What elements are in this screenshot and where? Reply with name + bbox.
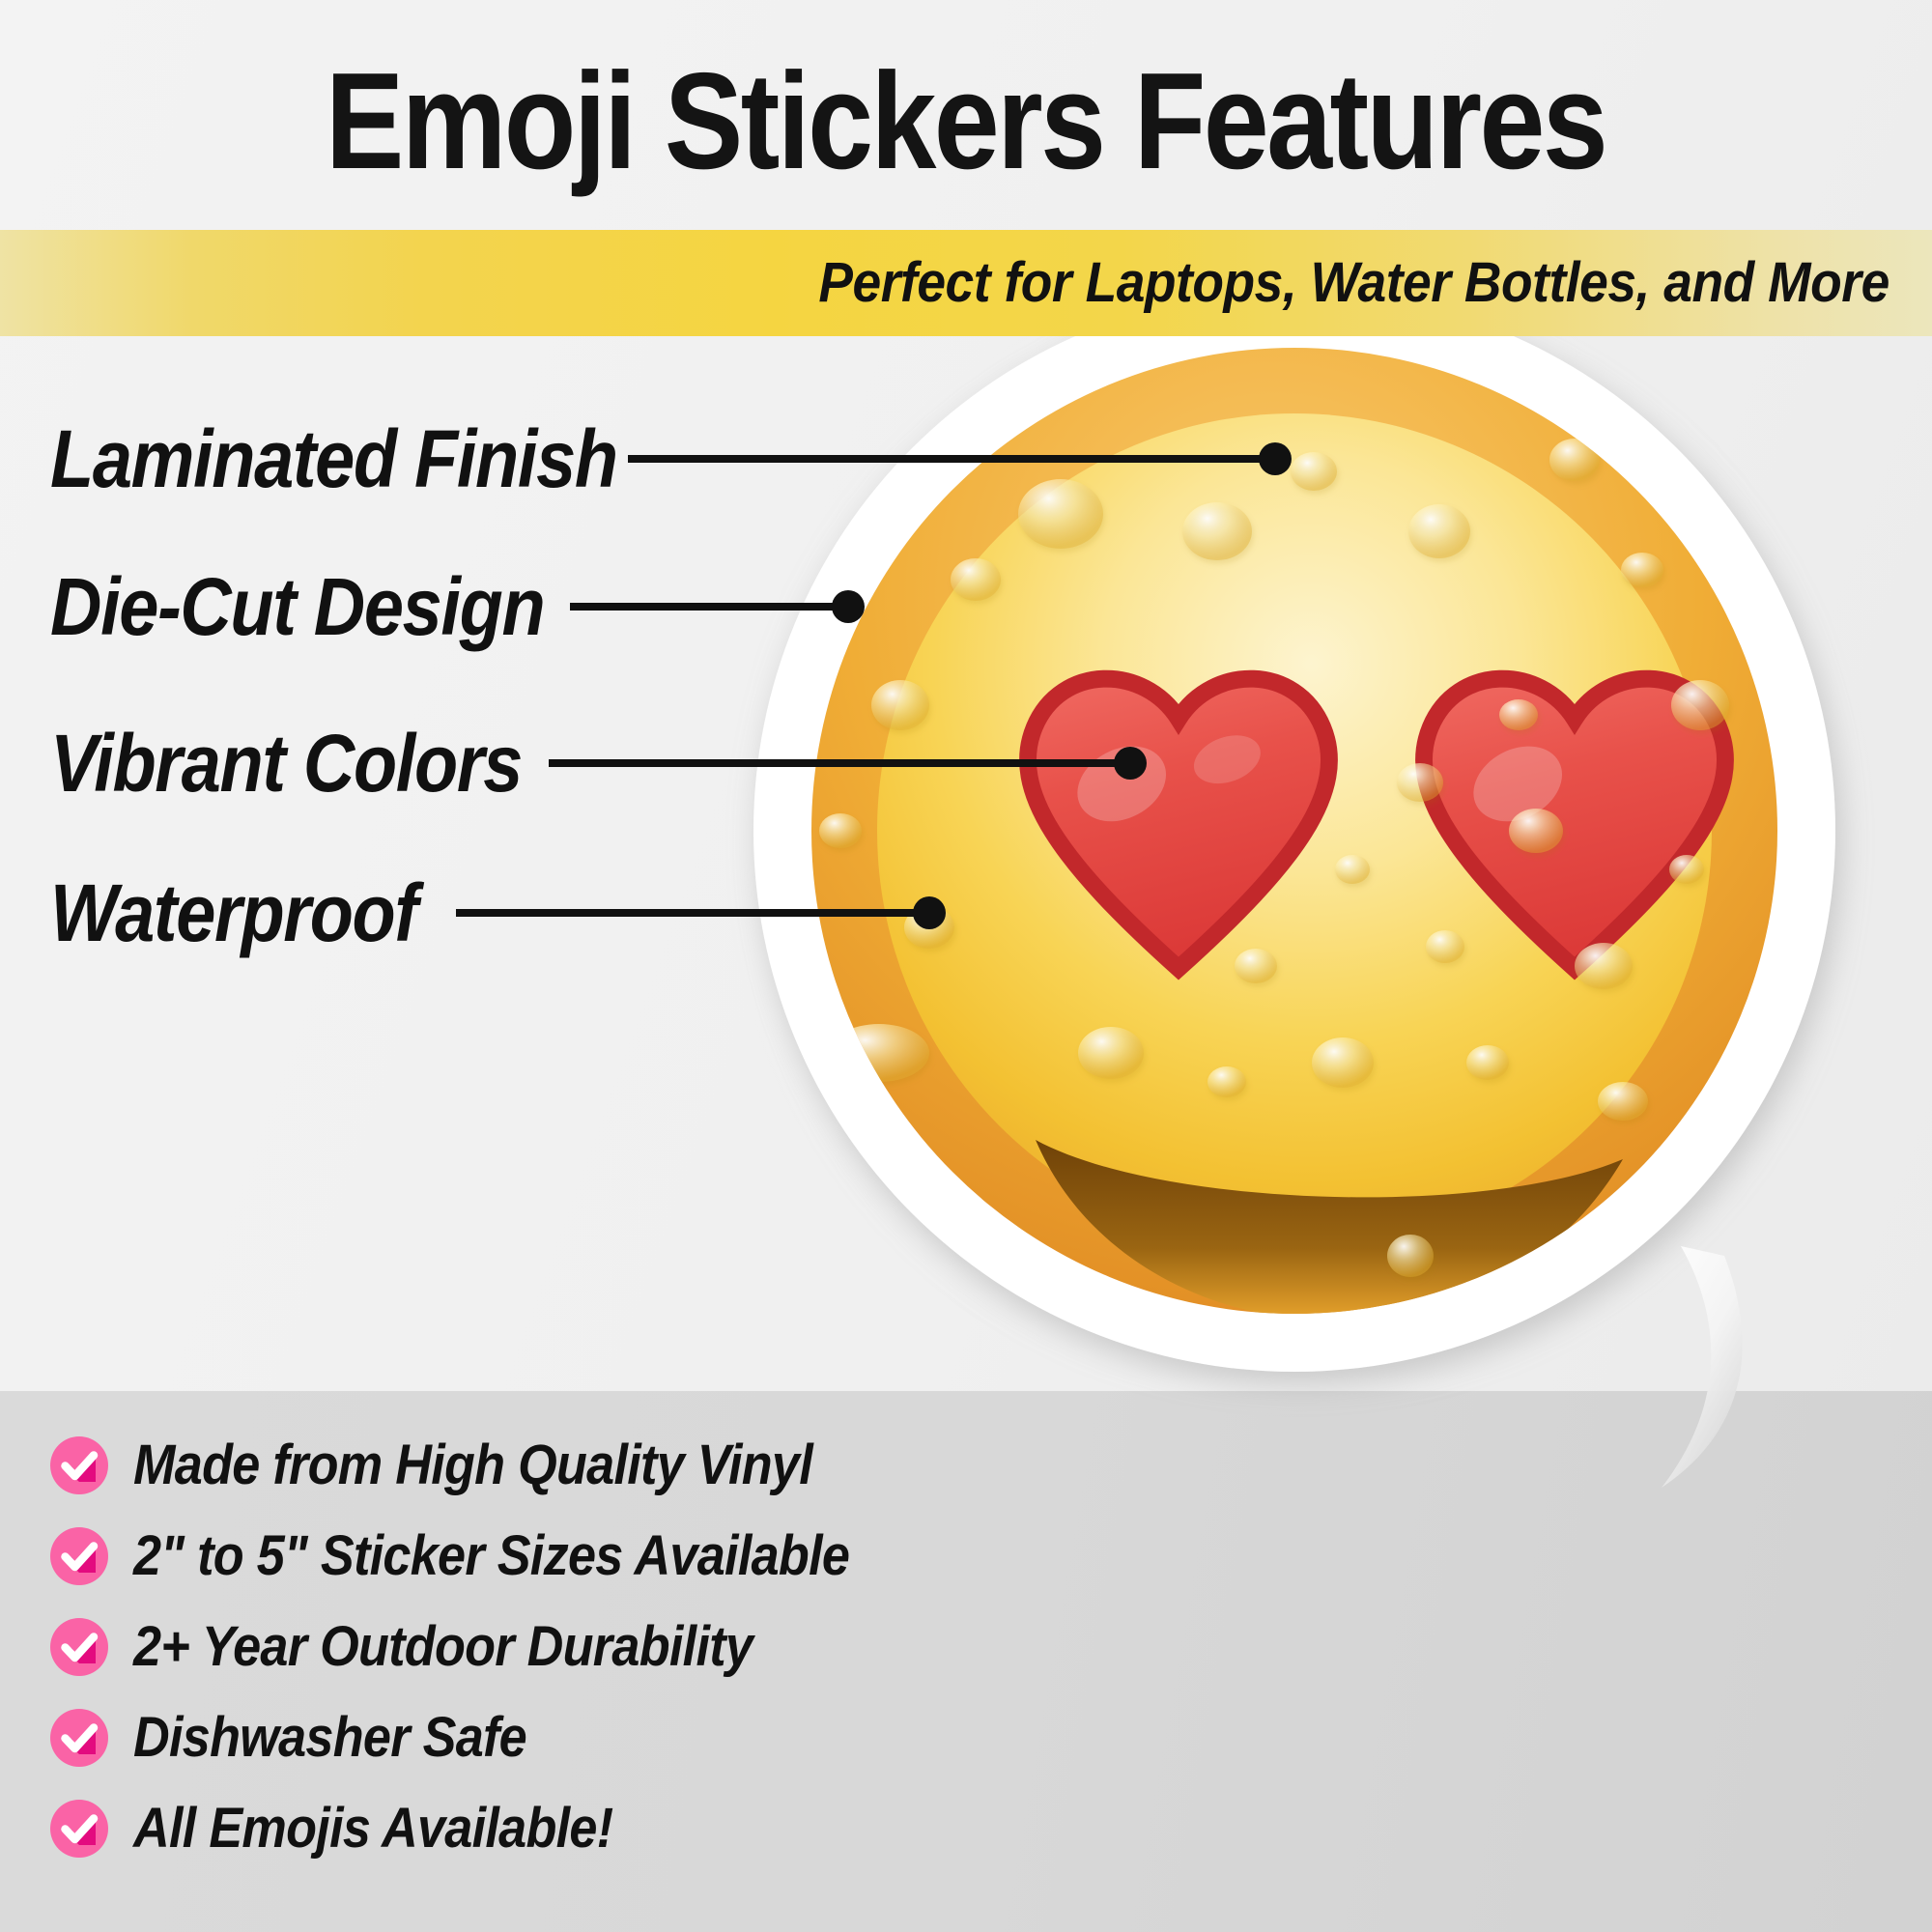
check-circle-icon — [50, 1436, 108, 1494]
leader-line-waterproof — [456, 909, 929, 917]
callout-label: Laminated Finish — [50, 418, 617, 499]
leader-line-die-cut-design — [570, 603, 848, 611]
check-item-label: 2+ Year Outdoor Durability — [133, 1619, 753, 1675]
check-item-label: Made from High Quality Vinyl — [133, 1437, 812, 1493]
subtitle-band: Perfect for Laptops, Water Bottles, and … — [0, 230, 1932, 336]
callout-label: Die-Cut Design — [50, 566, 544, 647]
callout-label: Waterproof — [50, 872, 417, 953]
leader-dot-waterproof — [913, 896, 946, 929]
list-item: 2" to 5" Sticker Sizes Available — [50, 1520, 1161, 1592]
feature-checklist: Made from High Quality Vinyl 2" to 5" St… — [50, 1430, 1161, 1884]
list-item: All Emojis Available! — [50, 1793, 1161, 1864]
callout-label: Vibrant Colors — [50, 723, 522, 804]
check-item-label: 2" to 5" Sticker Sizes Available — [133, 1528, 849, 1584]
leader-dot-laminated-finish — [1259, 442, 1292, 475]
check-circle-icon — [50, 1527, 108, 1585]
check-circle-icon — [50, 1709, 108, 1767]
infographic-root: Laminated Finish Die-Cut Design Vibrant … — [0, 0, 1932, 1932]
check-item-label: Dishwasher Safe — [133, 1710, 526, 1766]
leader-line-laminated-finish — [628, 455, 1275, 463]
page-subtitle: Perfect for Laptops, Water Bottles, and … — [819, 255, 1889, 311]
leader-dot-die-cut-design — [832, 590, 865, 623]
list-item: 2+ Year Outdoor Durability — [50, 1611, 1161, 1683]
check-circle-icon — [50, 1800, 108, 1858]
check-item-label: All Emojis Available! — [133, 1801, 612, 1857]
header: Emoji Stickers Features — [0, 0, 1932, 230]
check-circle-icon — [50, 1618, 108, 1676]
leader-dot-vibrant-colors — [1114, 747, 1147, 780]
list-item: Made from High Quality Vinyl — [50, 1430, 1161, 1501]
list-item: Dishwasher Safe — [50, 1702, 1161, 1774]
leader-line-vibrant-colors — [549, 759, 1130, 767]
page-title: Emoji Stickers Features — [326, 40, 1605, 190]
